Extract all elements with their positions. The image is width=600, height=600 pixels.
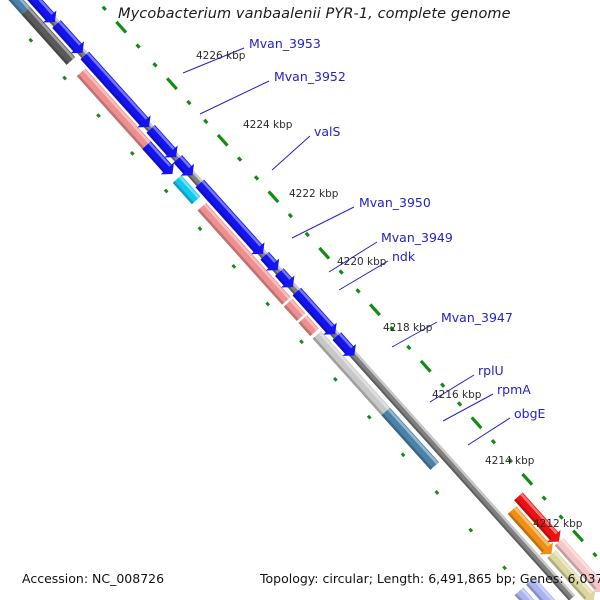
rna-marker[interactable] [502, 565, 507, 570]
rna-marker[interactable] [299, 339, 304, 344]
rna-marker[interactable] [333, 377, 338, 382]
rna-marker[interactable] [572, 529, 584, 542]
rna-marker[interactable] [491, 439, 496, 444]
outer-feature-lane [0, 0, 439, 470]
gene-label[interactable]: Mvan_3947 [441, 310, 513, 325]
ruler-tick-label: 4216 kbp [432, 389, 481, 401]
rna-marker[interactable] [164, 189, 169, 194]
gene-label-leader [272, 136, 310, 170]
rna-marker[interactable] [198, 226, 203, 231]
rna-marker[interactable] [166, 77, 178, 90]
rna-marker[interactable] [355, 288, 360, 293]
ruler-tick-label: 4226 kbp [196, 50, 245, 62]
gene-label[interactable]: obgE [514, 406, 545, 421]
ruler-tick-label: 4224 kbp [243, 119, 292, 131]
rna-marker[interactable] [406, 345, 411, 350]
ruler-tick-label: 4212 kbp [533, 518, 582, 530]
gene-feature-highlight [204, 203, 291, 299]
gene-label[interactable]: rplU [478, 363, 504, 378]
rna-marker[interactable] [420, 360, 432, 373]
gene-label[interactable]: valS [314, 124, 340, 139]
rna-marker[interactable] [521, 473, 533, 486]
rna-marker[interactable] [28, 38, 33, 43]
rna-marker[interactable] [369, 303, 381, 316]
gene-label[interactable]: Mvan_3953 [249, 36, 321, 51]
rna-marker[interactable] [468, 528, 473, 533]
rna-marker[interactable] [254, 175, 259, 180]
genome-diagram [0, 0, 600, 600]
rna-marker[interactable] [203, 119, 208, 124]
genome-stats-text: Topology: circular; Length: 6,491,865 bp… [260, 571, 600, 586]
ruler-tick-label: 4218 kbp [383, 322, 432, 334]
rna-marker[interactable] [231, 264, 236, 269]
rna-marker[interactable] [288, 213, 293, 218]
page-title: Mycobacterium vanbaalenii PYR-1, complet… [118, 6, 511, 22]
gene-feature-shadow [381, 414, 432, 470]
rna-marker[interactable] [542, 495, 547, 500]
gene-label[interactable]: ndk [392, 249, 415, 264]
rna-marker[interactable] [152, 62, 157, 67]
accession-text: Accession: NC_008726 [22, 571, 164, 586]
rna-marker[interactable] [318, 247, 330, 260]
rna-marker[interactable] [435, 490, 440, 495]
rna-marker[interactable] [135, 43, 140, 48]
gene-label[interactable]: Mvan_3950 [359, 195, 431, 210]
ruler-tick-label: 4220 kbp [337, 256, 386, 268]
gene-label-leader [200, 81, 269, 114]
rna-marker[interactable] [62, 76, 67, 81]
genome-viewer-canvas: Mycobacterium vanbaalenii PYR-1, complet… [0, 0, 600, 600]
gene-feature-highlight [83, 69, 150, 144]
rna-marker[interactable] [401, 452, 406, 457]
gene-label[interactable]: rpmA [497, 382, 531, 397]
ruler-tick-label: 4222 kbp [289, 188, 338, 200]
gene-feature-shadow [195, 186, 255, 252]
rna-marker[interactable] [102, 6, 107, 11]
rna-marker[interactable] [186, 100, 191, 105]
rna-marker[interactable] [440, 382, 445, 387]
rna-marker[interactable] [338, 269, 343, 274]
rna-marker[interactable] [367, 415, 372, 420]
gene-label[interactable]: Mvan_3949 [381, 230, 453, 245]
rna-marker[interactable] [471, 416, 483, 429]
gene-feature-shadow [80, 58, 141, 126]
ruler-tick-label: 4214 kbp [485, 455, 534, 467]
gene-feature[interactable] [197, 203, 290, 305]
rna-marker[interactable] [267, 190, 279, 203]
rna-marker[interactable] [115, 21, 127, 34]
rna-marker[interactable] [217, 134, 229, 147]
rna-marker[interactable] [457, 401, 462, 406]
rna-marker[interactable] [96, 113, 101, 118]
rna-marker[interactable] [305, 232, 310, 237]
rna-marker[interactable] [592, 552, 597, 557]
gene-label-leader [292, 207, 354, 238]
rna-marker[interactable] [237, 156, 242, 161]
gene-feature-highlight [319, 331, 390, 409]
gene-label[interactable]: Mvan_3952 [274, 69, 346, 84]
rna-marker[interactable] [130, 151, 135, 156]
rna-marker[interactable] [265, 302, 270, 307]
gene-feature-shadow [22, 13, 69, 65]
